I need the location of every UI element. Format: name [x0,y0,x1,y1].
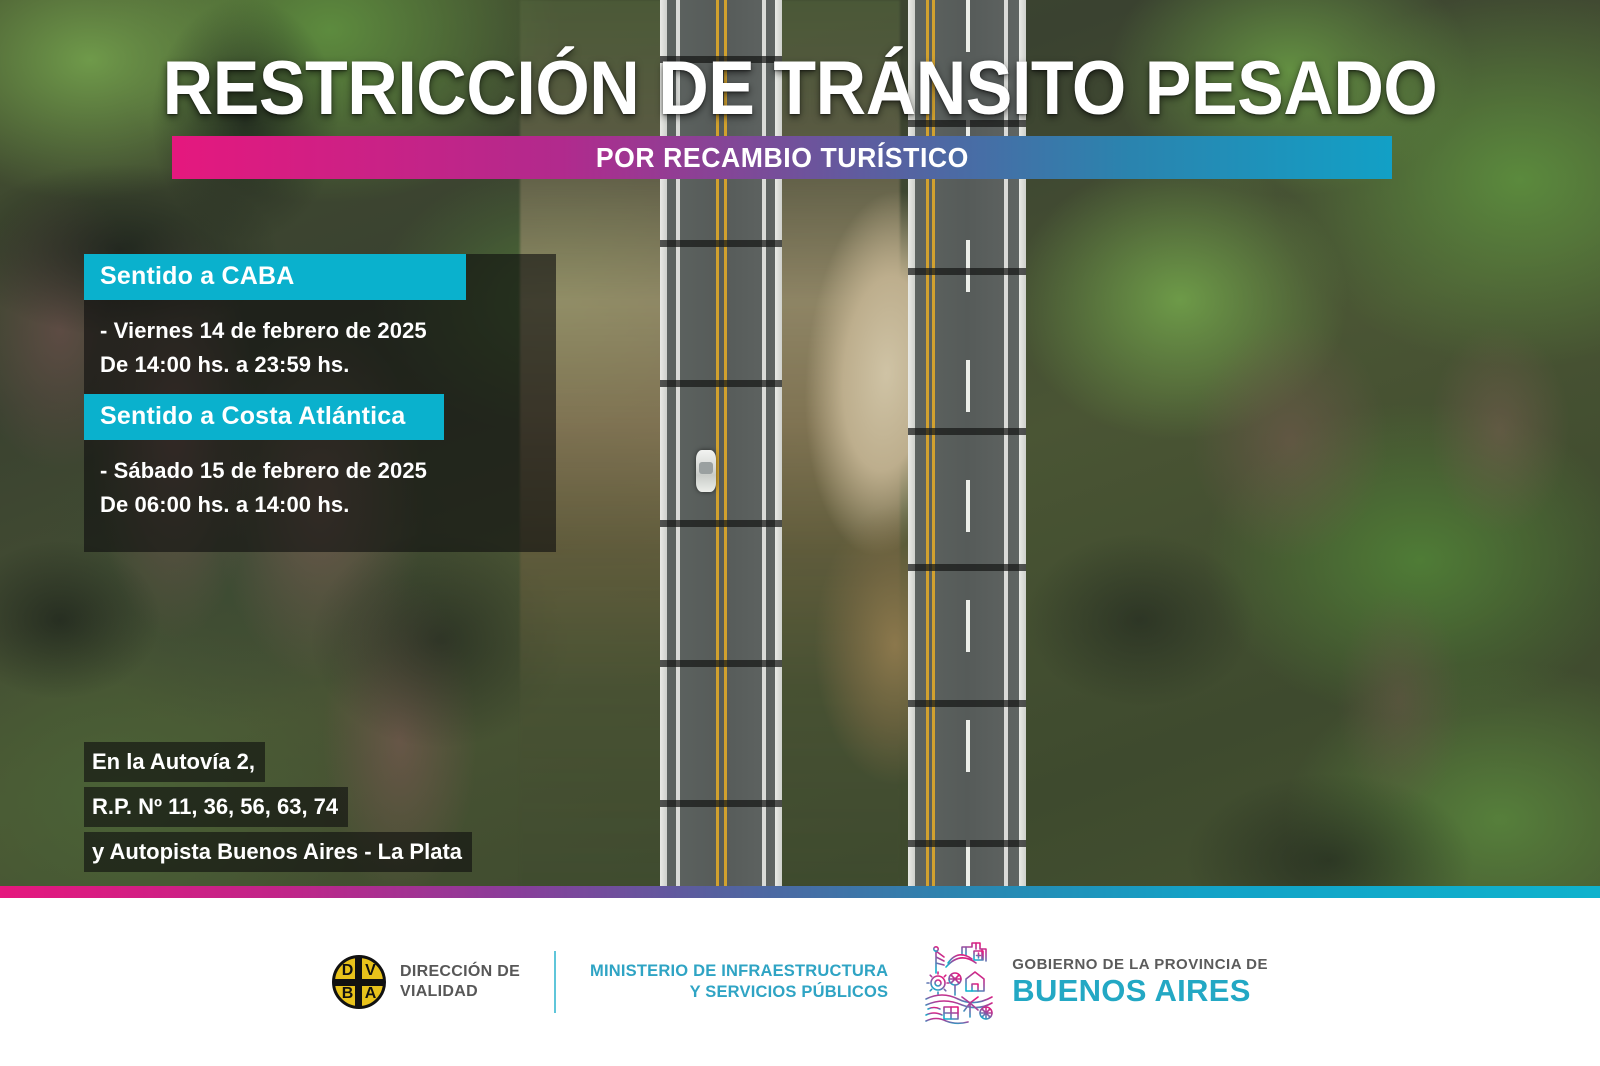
guardrail-right-inner [908,0,915,886]
subtitle-bar: POR RECAMBIO TURÍSTICO [172,136,1392,179]
restriction-info-panel: Sentido a CABA - Viernes 14 de febrero d… [84,254,556,552]
lane-dashes [966,0,970,886]
bridge-left [660,0,782,886]
ministry-wordmark: MINISTERIO DE INFRAESTRUCTURA Y SERVICIO… [590,961,888,1003]
ministry-line-2: Y SERVICIOS PÚBLICOS [590,982,888,1003]
expansion-joint [660,380,782,387]
edge-line [1004,0,1008,886]
footer-divider [554,951,556,1013]
section-heading-costa: Sentido a Costa Atlántica [84,394,444,440]
gradient-divider [0,886,1600,898]
affected-roads: En la Autovía 2, R.P. Nº 11, 36, 56, 63,… [84,742,514,877]
footer: D V B A DIRECCIÓN DE VIALIDAD MINISTERIO… [0,898,1600,1066]
expansion-joint [908,564,1026,571]
page-title: RESTRICCIÓN DE TRÁNSITO PESADO [64,48,1536,130]
section-body-costa: - Sábado 15 de febrero de 2025 De 06:00 … [84,440,556,534]
center-line-yellow [724,0,727,886]
section-body-caba: - Viernes 14 de febrero de 2025 De 14:00… [84,300,556,394]
dvba-letter-b: B [337,983,358,1004]
car [696,450,716,492]
edge-line [762,0,766,886]
government-line-2: BUENOS AIRES [1012,974,1268,1008]
road-line-2: R.P. Nº 11, 36, 56, 63, 74 [84,787,348,827]
edge-line-yellow [926,0,929,886]
guardrail-right-outer [1019,0,1026,886]
section-time-costa: De 06:00 hs. a 14:00 hs. [100,488,556,522]
dvba-line-1: DIRECCIÓN DE [400,962,520,982]
government-logo: GOBIERNO DE LA PROVINCIA DE BUENOS AIRES [922,939,1268,1025]
page-subtitle: POR RECAMBIO TURÍSTICO [595,142,968,174]
expansion-joint [908,428,1026,435]
dvba-line-2: VIALIDAD [400,982,520,1002]
guardrail-left-inner [775,0,782,886]
road-line-3: y Autopista Buenos Aires - La Plata [84,832,472,872]
expansion-joint [908,700,1026,707]
government-wordmark: GOBIERNO DE LA PROVINCIA DE BUENOS AIRES [1012,956,1268,1008]
expansion-joint [660,520,782,527]
section-date-costa: - Sábado 15 de febrero de 2025 [100,454,556,488]
center-line-yellow [716,0,719,886]
edge-line-yellow [932,0,935,886]
government-line-1: GOBIERNO DE LA PROVINCIA DE [1012,956,1268,974]
dvba-letter-d: D [337,960,358,981]
bridge-right [908,0,1026,886]
expansion-joint [660,240,782,247]
aerial-highway-photo: RESTRICCIÓN DE TRÁNSITO PESADO POR RECAM… [0,0,1600,886]
dvba-logo: D V B A DIRECCIÓN DE VIALIDAD [332,955,520,1009]
section-time-caba: De 14:00 hs. a 23:59 hs. [100,348,556,382]
expansion-joint [908,268,1026,275]
ministry-line-1: MINISTERIO DE INFRAESTRUCTURA [590,961,888,982]
section-heading-caba: Sentido a CABA [84,254,466,300]
footer-logos: D V B A DIRECCIÓN DE VIALIDAD MINISTERIO… [332,939,1268,1025]
poster: RESTRICCIÓN DE TRÁNSITO PESADO POR RECAM… [0,0,1600,1066]
expansion-joint [660,800,782,807]
dvba-emblem-icon: D V B A [332,955,386,1009]
guardrail-left-outer [660,0,667,886]
section-date-caba: - Viernes 14 de febrero de 2025 [100,314,556,348]
dvba-letter-v: V [360,960,381,981]
expansion-joint [908,840,1026,847]
expansion-joint [660,660,782,667]
road-line-1: En la Autovía 2, [84,742,265,782]
dvba-wordmark: DIRECCIÓN DE VIALIDAD [400,962,520,1002]
dvba-letter-a: A [360,983,381,1004]
edge-line [676,0,680,886]
buenos-aires-emblem-icon [922,939,996,1025]
